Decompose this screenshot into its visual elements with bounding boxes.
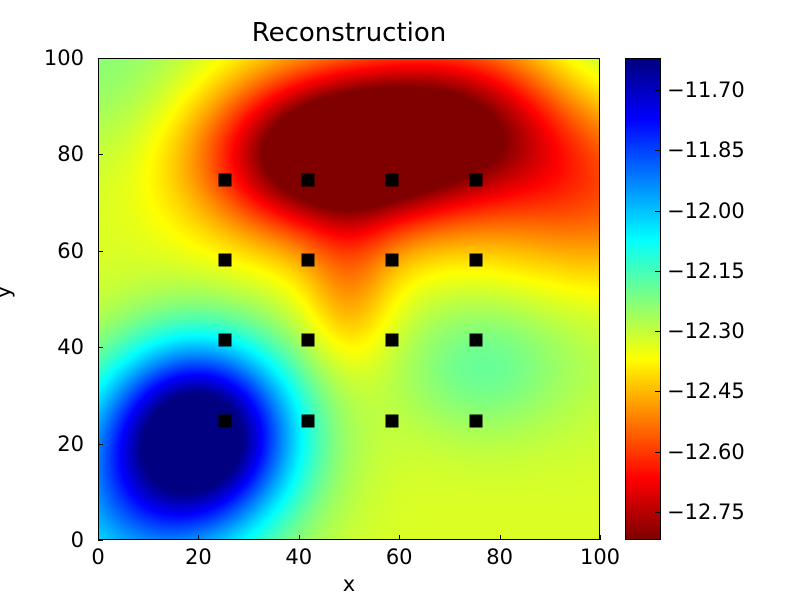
colorbar-tick-mark [655, 90, 661, 91]
colorbar-tick-label: −12.30 [667, 319, 745, 343]
colorbar-tick-mark [655, 331, 661, 332]
colorbar-tick-label: −12.75 [667, 500, 745, 524]
colorbar-gradient [626, 59, 660, 539]
sensor-location-marker [469, 173, 482, 186]
y-tick-mark [98, 444, 103, 445]
x-tick-label: 60 [386, 545, 413, 569]
sensor-location-marker [301, 334, 314, 347]
sensor-location-marker [469, 334, 482, 347]
colorbar-tick-label: −12.45 [667, 379, 745, 403]
colorbar-tick-label: −11.85 [667, 138, 745, 162]
colorbar-tick-mark [655, 391, 661, 392]
x-tick-mark [500, 535, 501, 540]
sensor-location-marker [218, 334, 231, 347]
x-tick-mark [198, 535, 199, 540]
colorbar-tick-mark [655, 452, 661, 453]
sensor-location-marker [218, 253, 231, 266]
y-tick-label: 60 [57, 239, 84, 263]
y-tick-label: 100 [44, 46, 84, 70]
x-tick-label: 80 [486, 545, 513, 569]
colorbar-tick-mark [655, 150, 661, 151]
sensor-location-marker [385, 334, 398, 347]
sensor-location-marker [385, 173, 398, 186]
x-tick-label: 40 [285, 545, 312, 569]
y-tick-mark [98, 154, 103, 155]
sensor-location-marker [301, 414, 314, 427]
y-tick-mark [98, 540, 103, 541]
sensor-marker-layer [99, 59, 599, 539]
colorbar-tick-mark [655, 271, 661, 272]
x-tick-mark [399, 535, 400, 540]
colorbar-tick-mark [655, 211, 661, 212]
figure-canvas: Reconstruction 020406080100 020406080100… [0, 0, 800, 600]
sensor-location-marker [218, 414, 231, 427]
y-tick-mark [98, 347, 103, 348]
sensor-location-marker [301, 173, 314, 186]
y-tick-mark [98, 251, 103, 252]
x-tick-label: 0 [91, 545, 104, 569]
sensor-location-marker [218, 173, 231, 186]
x-axis-label: x [98, 572, 600, 596]
y-tick-label: 40 [57, 335, 84, 359]
colorbar-tick-label: −12.60 [667, 440, 745, 464]
sensor-location-marker [385, 414, 398, 427]
sensor-location-marker [385, 253, 398, 266]
y-tick-mark [98, 58, 103, 59]
colorbar-tick-label: −11.70 [667, 78, 745, 102]
x-tick-mark [299, 535, 300, 540]
sensor-location-marker [301, 253, 314, 266]
y-tick-label: 0 [71, 528, 84, 552]
x-tick-label: 100 [580, 545, 620, 569]
x-tick-label: 20 [185, 545, 212, 569]
y-axis-label: y [0, 286, 15, 298]
page-title: Reconstruction [98, 18, 600, 48]
y-tick-label: 80 [57, 142, 84, 166]
colorbar-tick-mark [655, 512, 661, 513]
colorbar-tick-label: −12.00 [667, 199, 745, 223]
heatmap-axes[interactable] [98, 58, 600, 540]
y-tick-label: 20 [57, 432, 84, 456]
sensor-location-marker [469, 414, 482, 427]
sensor-location-marker [469, 253, 482, 266]
x-tick-mark [600, 535, 601, 540]
colorbar[interactable] [625, 58, 661, 540]
colorbar-tick-label: −12.15 [667, 259, 745, 283]
